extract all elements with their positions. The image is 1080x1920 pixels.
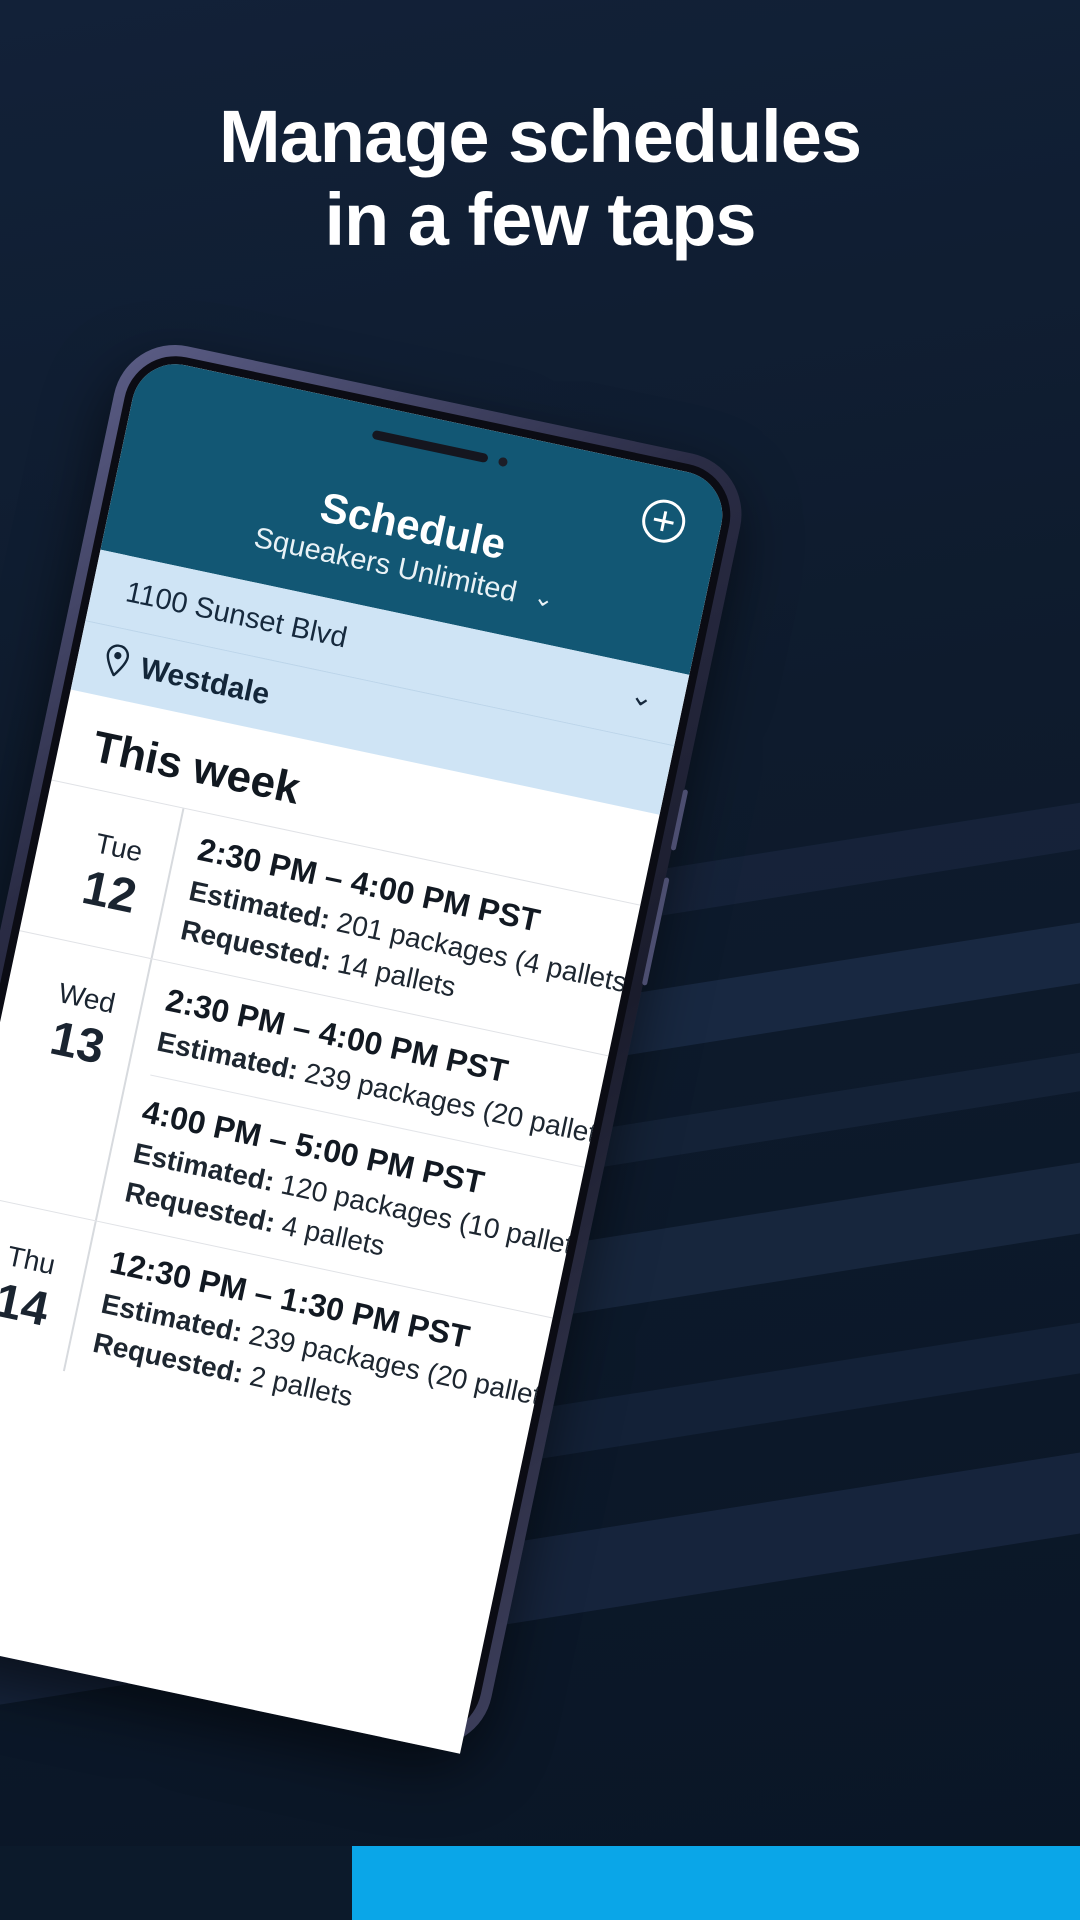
schedule-list: This week Tue 12 2:30 PM – 4:00 PM PST E… [0, 690, 660, 1469]
chevron-down-icon: ⌄ [627, 677, 657, 714]
bottom-accent-bar [0, 1846, 1080, 1920]
headline-line-1: Manage schedules [219, 95, 861, 178]
headline-line-2: in a few taps [0, 179, 1080, 262]
add-appointment-icon[interactable] [636, 494, 691, 549]
chevron-down-icon: ⌄ [531, 582, 557, 615]
map-pin-icon [101, 642, 133, 679]
bottom-bar-left-segment [0, 1846, 352, 1920]
location-label: Westdale [137, 652, 272, 713]
promo-headline: Manage schedules in a few taps [0, 96, 1080, 262]
